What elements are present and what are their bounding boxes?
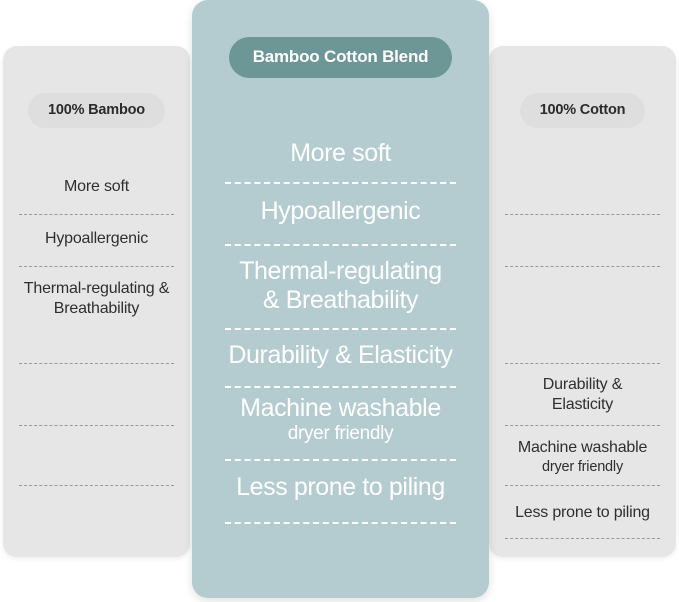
left-badge-wrap: 100% Bamboo (3, 93, 190, 128)
list-item: Hypoallergenic (214, 190, 467, 234)
right-divider-0 (505, 214, 660, 215)
right-divider-5 (505, 538, 660, 539)
center-divider-3 (225, 386, 456, 388)
right-divider-1 (505, 266, 660, 267)
left-row-0-text: More soft (64, 177, 129, 197)
center-row-2-text: Thermal-regulating & Breathability (239, 257, 442, 316)
center-row-3-text: Durability & Elasticity (228, 341, 452, 371)
list-item: Less prone to piling (505, 491, 660, 535)
badge-100-percent-bamboo[interactable]: 100% Bamboo (28, 93, 165, 128)
list-item: More soft (19, 167, 174, 207)
center-row-1-text: Hypoallergenic (261, 197, 421, 227)
list-item: Hypoallergenic (19, 219, 174, 259)
left-divider-3 (19, 425, 174, 426)
left-divider-2 (19, 363, 174, 364)
center-rows: More soft Hypoallergenic Thermal-regulat… (192, 132, 489, 552)
list-item (19, 491, 174, 539)
left-rows: More soft Hypoallergenic Thermal-regulat… (3, 151, 190, 557)
right-row-5-text: Less prone to piling (515, 503, 650, 523)
panel-100-percent-bamboo: 100% Bamboo More soft Hypoallergenic The… (3, 46, 190, 557)
center-row-4-sub: dryer friendly (288, 423, 394, 446)
right-divider-3 (505, 425, 660, 426)
right-row-3-text: Durability & Elasticity (543, 375, 622, 414)
center-divider-1 (225, 244, 456, 246)
center-row-4-text: Machine washable (240, 394, 441, 424)
list-item (505, 219, 660, 259)
left-divider-1 (19, 266, 174, 267)
center-divider-2 (225, 328, 456, 330)
list-item: Machine washable dryer friendly (505, 431, 660, 483)
left-divider-0 (19, 214, 174, 215)
list-item (505, 167, 660, 207)
list-item: Durability & Elasticity (214, 334, 467, 378)
list-item (505, 271, 660, 327)
right-row-4-sub: dryer friendly (542, 458, 623, 476)
center-row-0-text: More soft (290, 139, 391, 169)
center-divider-0 (225, 182, 456, 184)
center-row-5-text: Less prone to piling (236, 473, 445, 503)
right-divider-2 (505, 363, 660, 364)
panel-bamboo-cotton-blend: Bamboo Cotton Blend More soft Hypoallerg… (192, 0, 489, 598)
list-item: Thermal-regulating & Breathability (214, 250, 467, 322)
left-row-2-text: Thermal-regulating & Breathability (19, 279, 174, 318)
badge-100-percent-cotton[interactable]: 100% Cotton (520, 93, 646, 128)
right-row-4-text: Machine washable (518, 438, 647, 458)
list-item: Less prone to piling (214, 466, 467, 510)
panel-100-percent-cotton: 100% Cotton Durability & Elasticity (489, 46, 676, 557)
list-item (19, 431, 174, 479)
left-row-1-text: Hypoallergenic (45, 229, 148, 249)
center-divider-4 (225, 459, 456, 461)
right-rows: Durability & Elasticity Machine washable… (489, 151, 676, 557)
comparison-board: 100% Bamboo More soft Hypoallergenic The… (0, 0, 679, 602)
badge-bamboo-cotton-blend[interactable]: Bamboo Cotton Blend (229, 37, 453, 78)
list-item: Thermal-regulating & Breathability (19, 271, 174, 327)
list-item (19, 369, 174, 417)
list-item: More soft (214, 132, 467, 176)
left-divider-4 (19, 485, 174, 486)
list-item: Durability & Elasticity (505, 369, 660, 421)
center-divider-5 (225, 522, 456, 524)
right-badge-wrap: 100% Cotton (489, 93, 676, 128)
center-badge-wrap: Bamboo Cotton Blend (192, 37, 489, 78)
right-divider-4 (505, 485, 660, 486)
list-item: Machine washable dryer friendly (214, 390, 467, 450)
